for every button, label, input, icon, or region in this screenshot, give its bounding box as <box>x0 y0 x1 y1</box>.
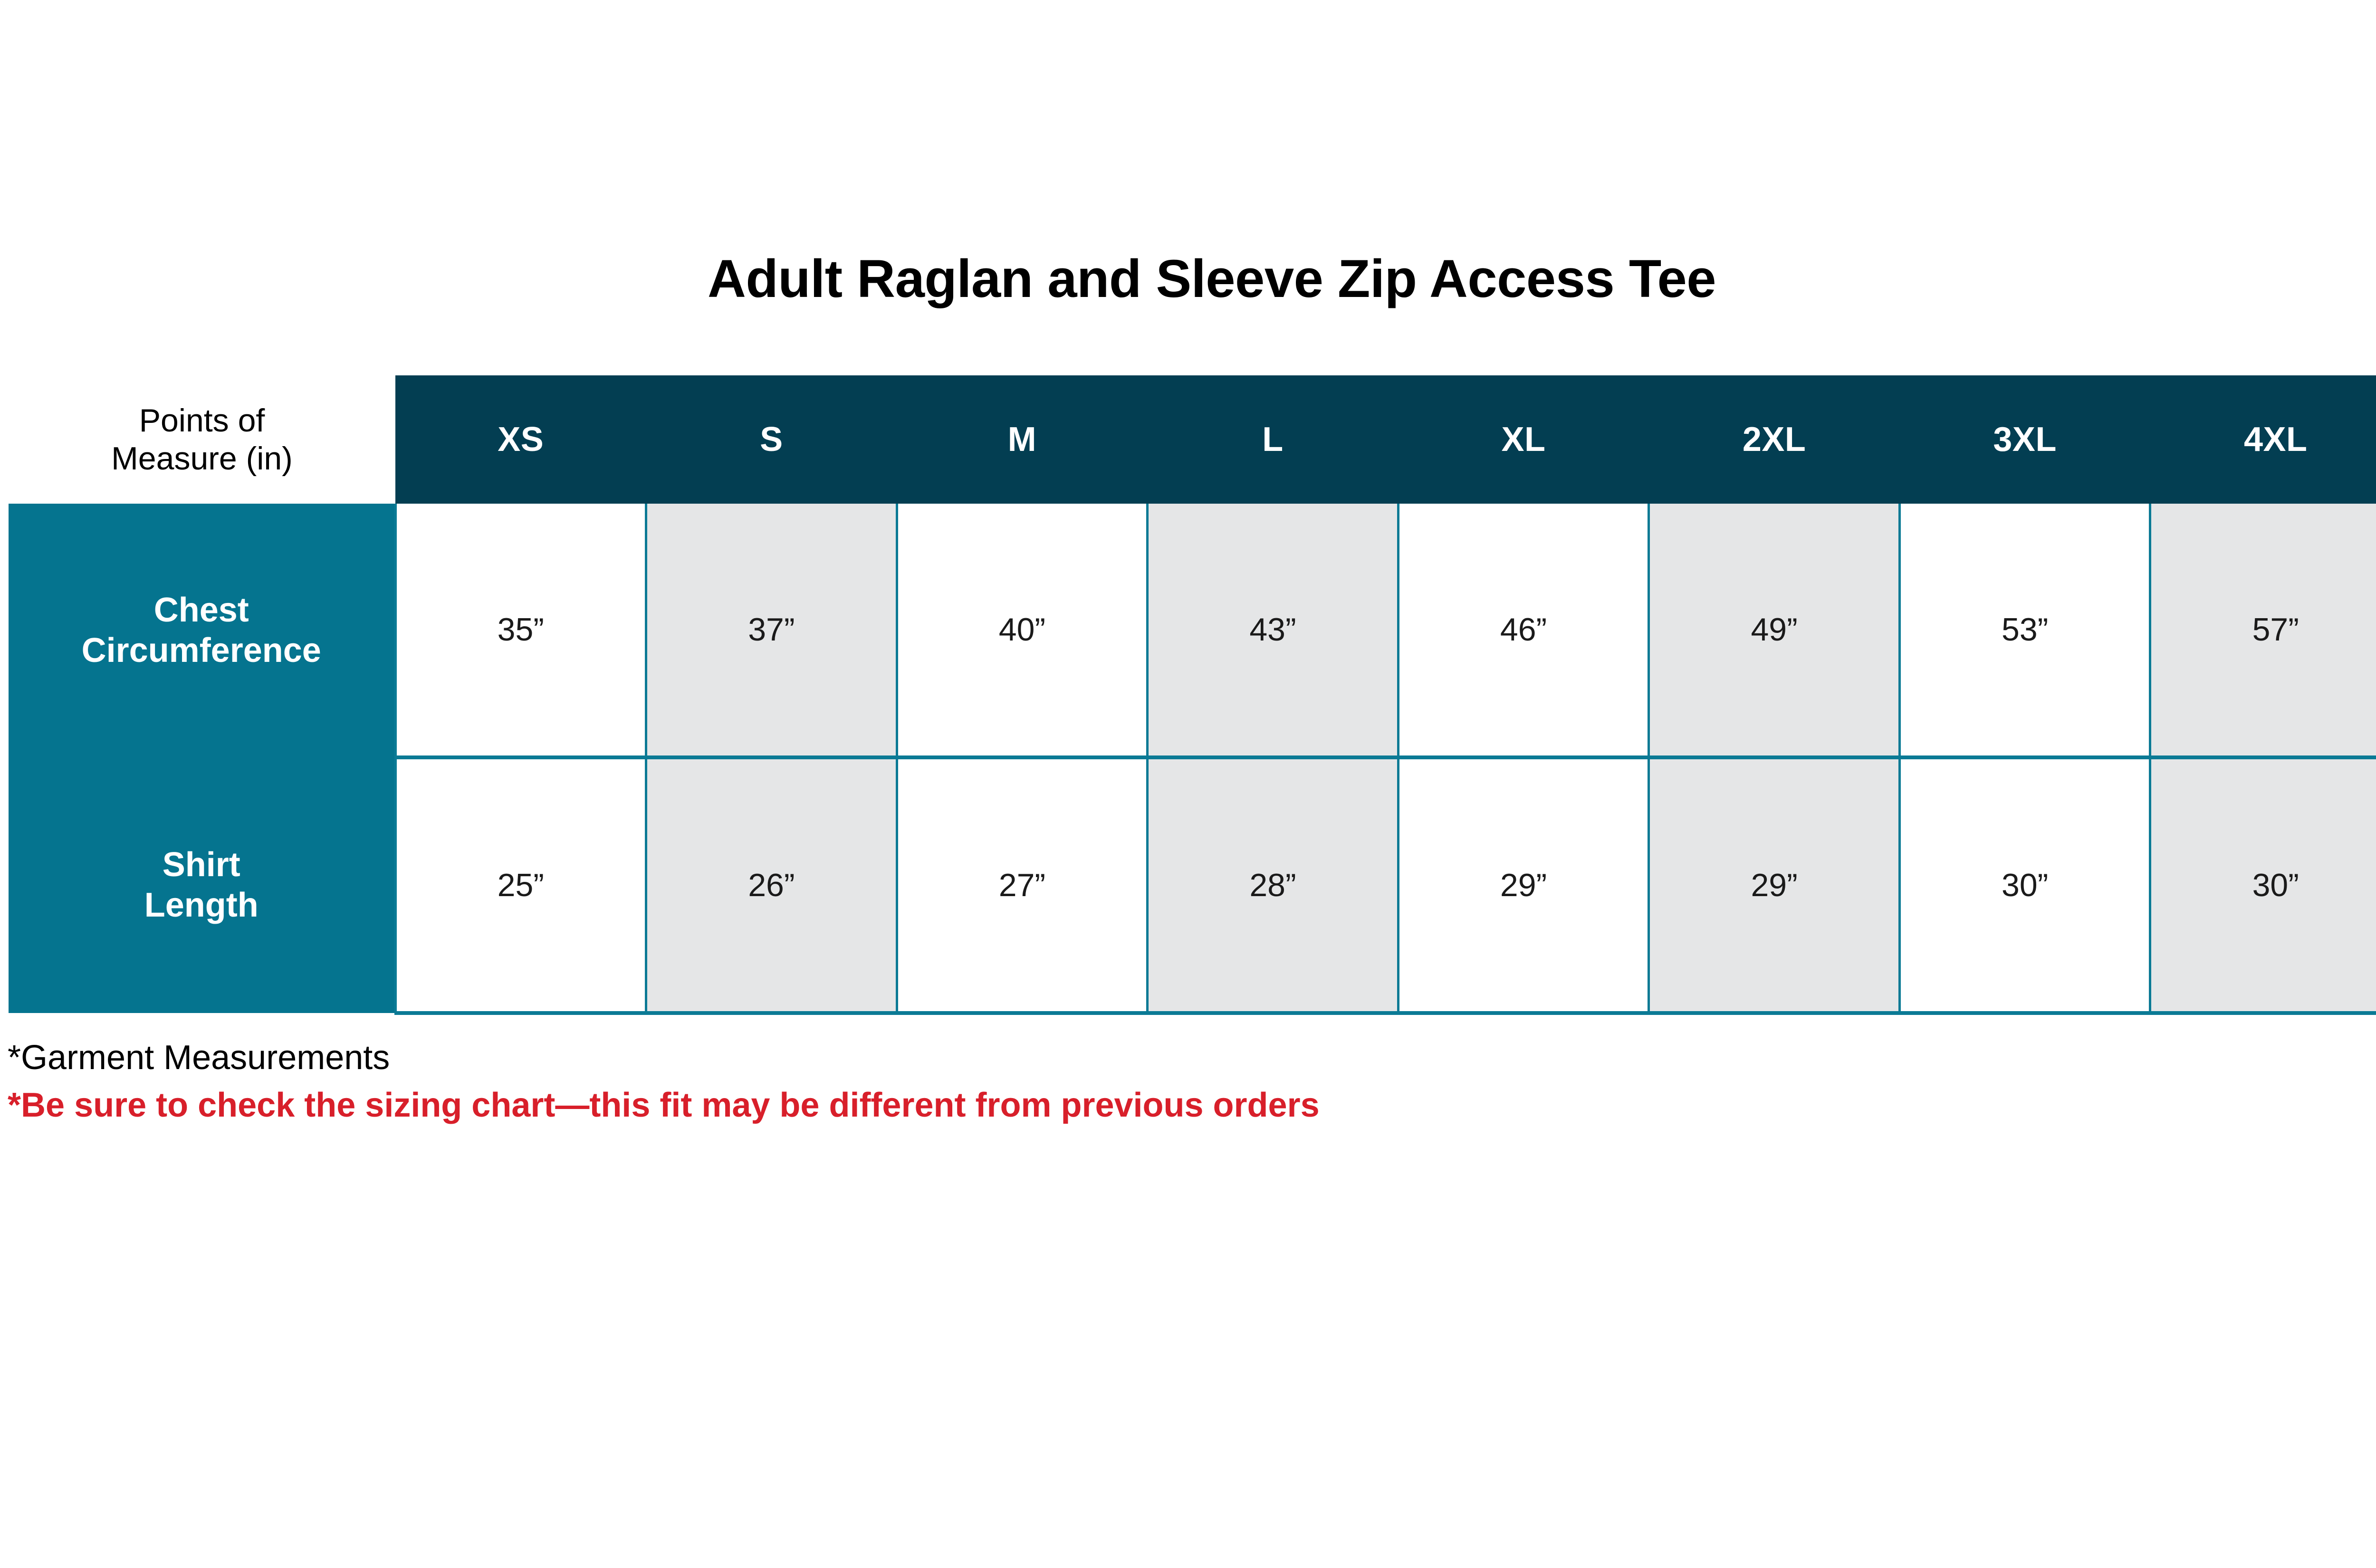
page-title: Adult Raglan and Sleeve Zip Access Tee <box>0 251 2376 307</box>
cell-length-2xl: 29” <box>1649 757 1900 1013</box>
points-of-measure-label: Points of Measure (in) <box>9 375 395 504</box>
table-header: Points of Measure (in) XS S M L XL 2XL 3… <box>9 375 2376 504</box>
sizing-warning-note: *Be sure to check the sizing chart—this … <box>8 1083 2289 1127</box>
cell-chest-m: 40” <box>897 504 1148 757</box>
cell-chest-3xl: 53” <box>1899 504 2150 757</box>
column-header-l: L <box>1148 375 1399 504</box>
row-label-line1: Shirt <box>9 845 394 885</box>
points-of-measure-line1: Points of <box>9 402 395 440</box>
column-header-xl: XL <box>1398 375 1649 504</box>
row-label-line2: Length <box>9 885 394 926</box>
cell-chest-s: 37” <box>646 504 897 757</box>
column-header-m: M <box>897 375 1148 504</box>
cell-length-m: 27” <box>897 757 1148 1013</box>
footnotes: *Garment Measurements *Be sure to check … <box>8 1036 2289 1127</box>
cell-length-4xl: 30” <box>2150 757 2376 1013</box>
points-of-measure-line2: Measure (in) <box>9 440 395 478</box>
column-header-2xl: 2XL <box>1649 375 1900 504</box>
column-header-4xl: 4XL <box>2150 375 2376 504</box>
column-header-3xl: 3XL <box>1899 375 2150 504</box>
cell-chest-2xl: 49” <box>1649 504 1900 757</box>
garment-measurements-note: *Garment Measurements <box>8 1036 2289 1080</box>
table-row: Shirt Length 25” 26” 27” 28” 29” 29” 30”… <box>9 757 2376 1013</box>
cell-chest-4xl: 57” <box>2150 504 2376 757</box>
cell-length-3xl: 30” <box>1899 757 2150 1013</box>
column-header-s: S <box>646 375 897 504</box>
column-header-xs: XS <box>395 375 646 504</box>
cell-length-l: 28” <box>1148 757 1399 1013</box>
sizing-table: Points of Measure (in) XS S M L XL 2XL 3… <box>9 375 2376 1015</box>
cell-chest-l: 43” <box>1148 504 1399 757</box>
cell-chest-xl: 46” <box>1398 504 1649 757</box>
row-label-chest-circumference: Chest Circumference <box>9 504 395 757</box>
cell-length-xl: 29” <box>1398 757 1649 1013</box>
row-label-line1: Chest <box>9 590 394 631</box>
table-body: Chest Circumference 35” 37” 40” 43” 46” … <box>9 504 2376 1013</box>
table-row: Chest Circumference 35” 37” 40” 43” 46” … <box>9 504 2376 757</box>
sizing-chart-page: Adult Raglan and Sleeve Zip Access Tee P… <box>0 0 2376 1568</box>
row-label-shirt-length: Shirt Length <box>9 757 395 1013</box>
header-row: Points of Measure (in) XS S M L XL 2XL 3… <box>9 375 2376 504</box>
cell-length-xs: 25” <box>395 757 646 1013</box>
row-label-line2: Circumference <box>9 631 394 671</box>
cell-length-s: 26” <box>646 757 897 1013</box>
cell-chest-xs: 35” <box>395 504 646 757</box>
